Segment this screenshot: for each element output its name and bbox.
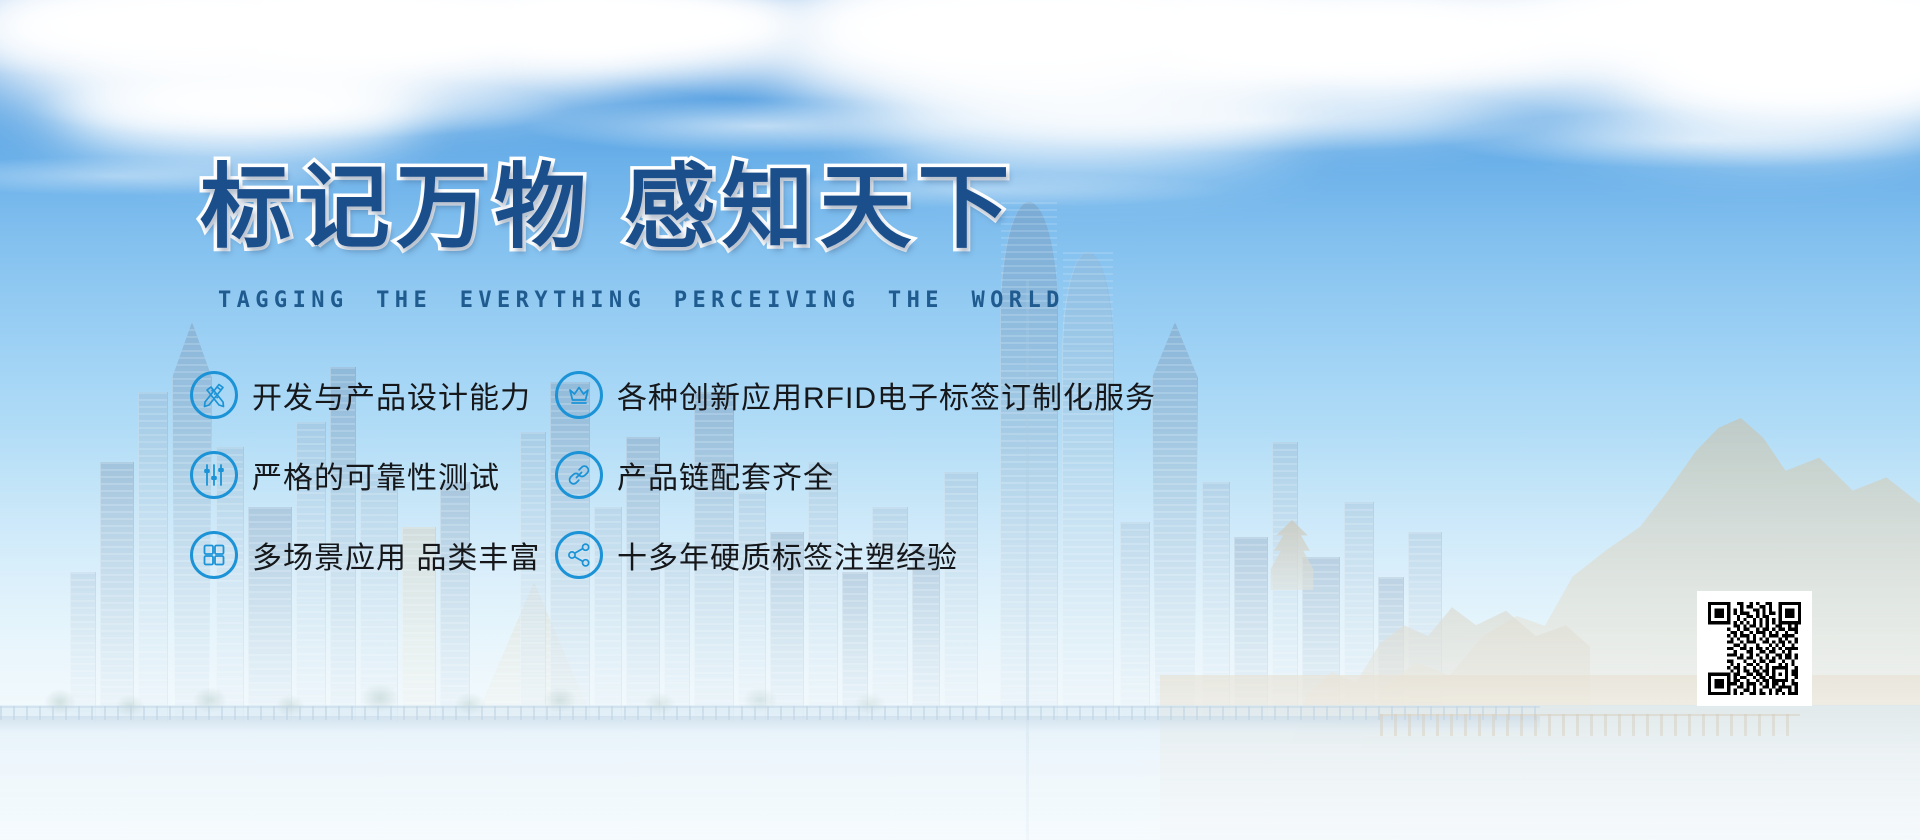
grid-squares-icon (190, 531, 238, 579)
page-title: 标记万物 感知天下 (200, 160, 1016, 257)
feature-label: 开发与产品设计能力 (252, 373, 531, 417)
feature-list: 开发与产品设计能力 各种创新应用RFID (190, 355, 1290, 595)
feature-item-rfid-custom[interactable]: 各种创新应用RFID电子标签订制化服务 (555, 355, 1290, 435)
ruler-pencil-icon (190, 371, 238, 419)
feature-label: 多场景应用 品类丰富 (252, 533, 540, 577)
feature-row: 开发与产品设计能力 各种创新应用RFID (190, 355, 1290, 435)
feature-item-molding-experience[interactable]: 十多年硬质标签注塑经验 (555, 515, 1290, 595)
qr-code-icon (1708, 602, 1801, 695)
share-nodes-icon (555, 531, 603, 579)
feature-column-left: 开发与产品设计能力 (190, 355, 555, 435)
feature-label: 产品链配套齐全 (617, 453, 834, 497)
feature-column-right: 各种创新应用RFID电子标签订制化服务 (555, 355, 1290, 435)
banner-content: 标记万物 感知天下 TAGGING THE EVERYTHING PERCEIV… (0, 0, 1920, 840)
feature-item-product-chain[interactable]: 产品链配套齐全 (555, 435, 1290, 515)
feature-item-scenarios[interactable]: 多场景应用 品类丰富 (190, 515, 555, 595)
feature-column-left: 多场景应用 品类丰富 (190, 515, 555, 595)
page-subtitle: TAGGING THE EVERYTHING PERCEIVING THE WO… (218, 288, 1065, 313)
feature-label: 十多年硬质标签注塑经验 (617, 533, 958, 577)
feature-column-right: 产品链配套齐全 (555, 435, 1290, 515)
sliders-icon (190, 451, 238, 499)
feature-row: 多场景应用 品类丰富 (190, 515, 1290, 595)
feature-column-left: 严格的可靠性测试 (190, 435, 555, 515)
feature-label: 严格的可靠性测试 (252, 453, 500, 497)
qr-code[interactable] (1703, 597, 1806, 700)
feature-row: 严格的可靠性测试 (190, 435, 1290, 515)
crown-icon (555, 371, 603, 419)
feature-label: 各种创新应用RFID电子标签订制化服务 (617, 373, 1156, 417)
feature-column-right: 十多年硬质标签注塑经验 (555, 515, 1290, 595)
feature-item-reliability-test[interactable]: 严格的可靠性测试 (190, 435, 555, 515)
hero-banner: 标记万物 感知天下 TAGGING THE EVERYTHING PERCEIV… (0, 0, 1920, 840)
link-chain-icon (555, 451, 603, 499)
feature-item-design[interactable]: 开发与产品设计能力 (190, 355, 555, 435)
